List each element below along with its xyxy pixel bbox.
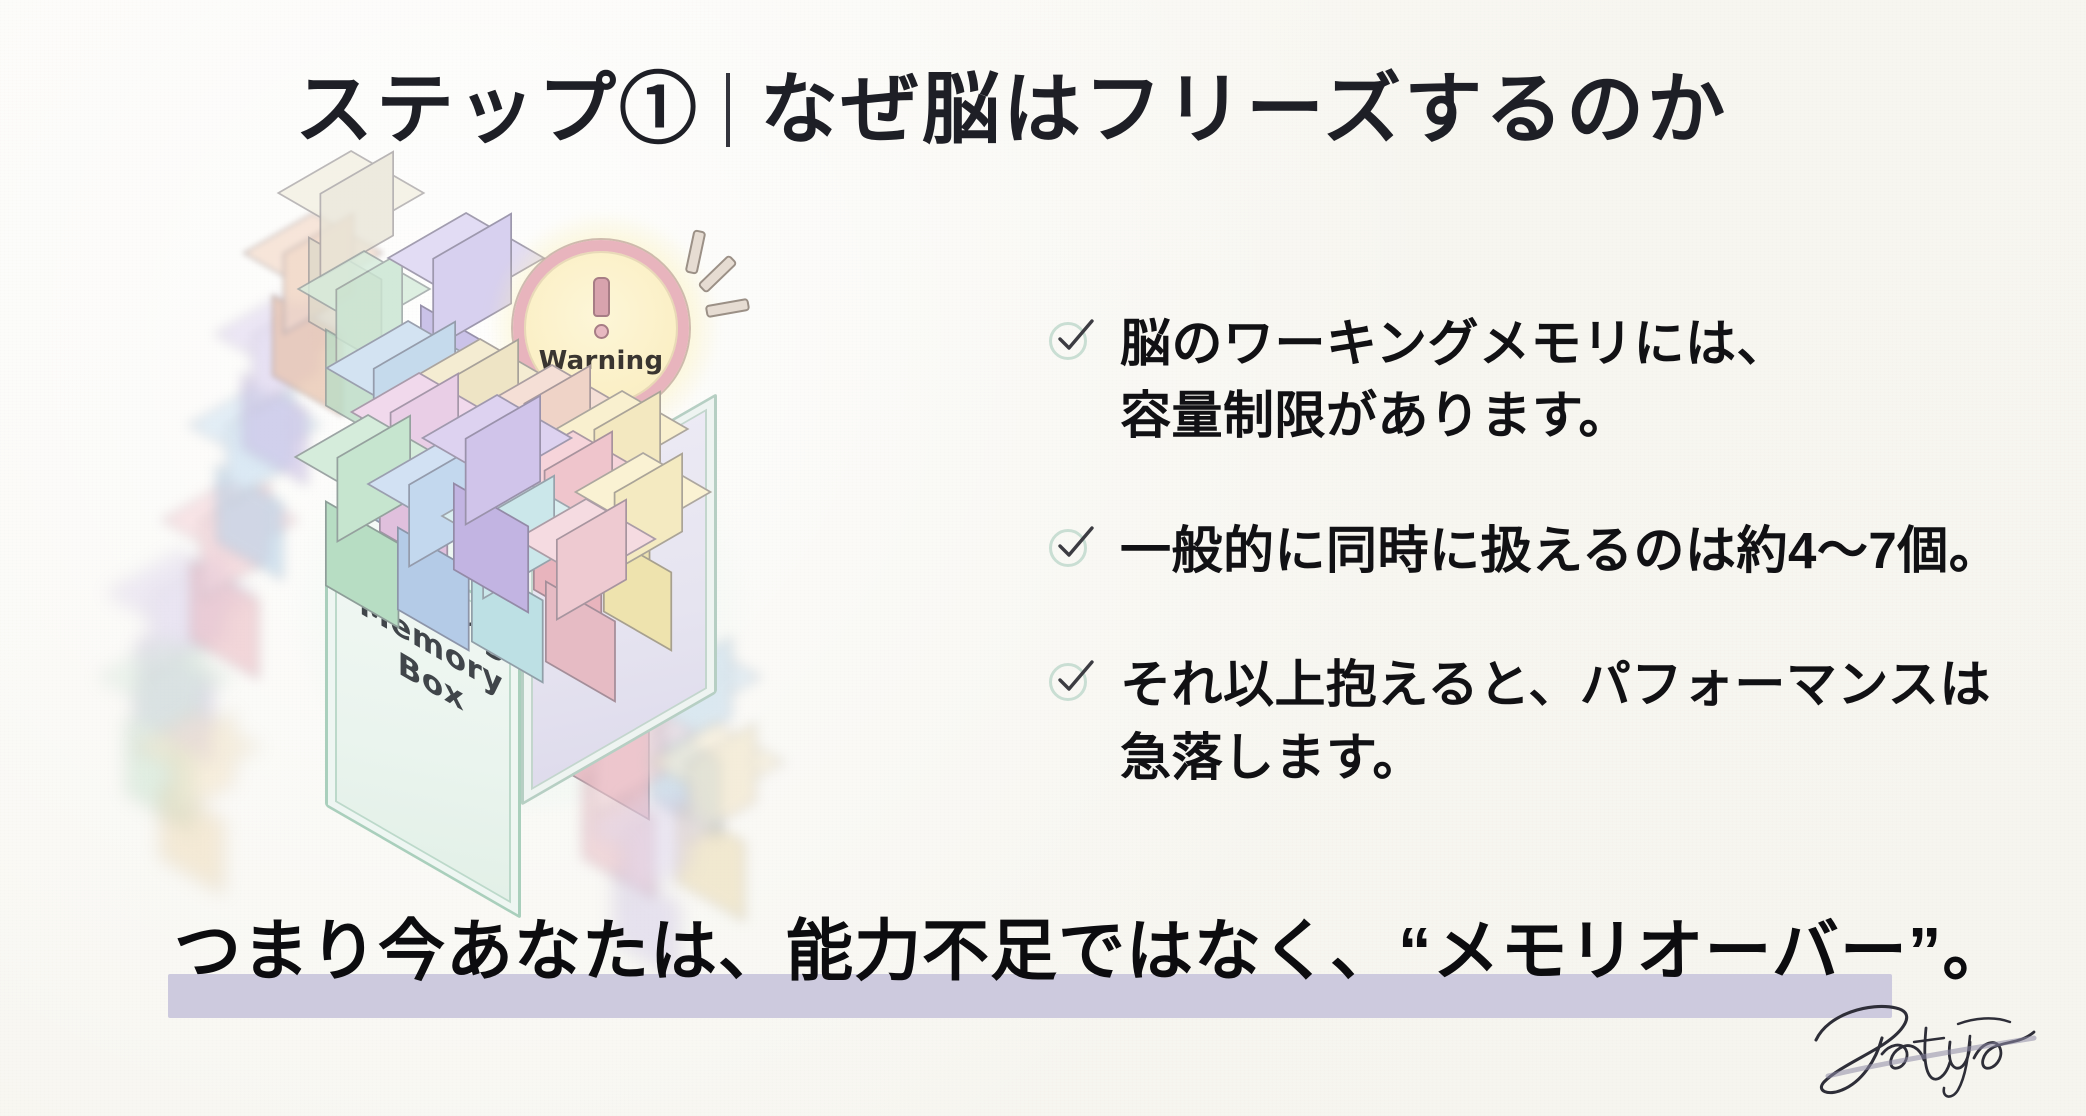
warning-ray [697, 254, 738, 294]
list-item: 脳のワーキングメモリには、 容量制限があります。 [1048, 308, 2008, 453]
floating-cube [325, 250, 403, 328]
check-circle-icon [1048, 659, 1094, 705]
title-divider [726, 73, 730, 147]
list-item: それ以上抱えると、パフォーマンスは 急落します。 [1048, 649, 2008, 794]
working-memory-illustration: Warning [120, 150, 930, 880]
box-cube-stack [325, 338, 725, 568]
list-item-label: 脳のワーキングメモリには、 容量制限があります。 [1120, 308, 1788, 453]
list-item-label: それ以上抱えると、パフォーマンスは 急落します。 [1120, 649, 1991, 794]
list-item-label: 一般的に同時に扱えるのは約4〜7個。 [1120, 515, 2000, 587]
check-circle-icon [1048, 318, 1094, 364]
banner-text: つまり今あなたは、能力不足ではなく、“メモリオーバー”。 [174, 912, 2010, 991]
title-step-label: ステップ① [295, 71, 700, 149]
slide-canvas: ステップ① なぜ脳はフリーズするのか [0, 0, 2086, 1116]
exclamation-dot-icon [594, 324, 609, 339]
signature [1798, 998, 2048, 1102]
list-item: 一般的に同時に扱えるのは約4〜7個。 [1048, 515, 2008, 587]
warning-rays [677, 228, 757, 338]
floating-cube [308, 150, 394, 236]
page-title: ステップ① なぜ脳はフリーズするのか [295, 62, 1728, 158]
title-heading: なぜ脳はフリーズするのか [760, 71, 1728, 149]
scattered-cube [126, 638, 204, 716]
bullet-list: 脳のワーキングメモリには、 容量制限があります。 一般的に同時に扱えるのは約4〜… [1048, 308, 2008, 794]
warning-ray [685, 229, 707, 275]
summary-banner: つまり今あなたは、能力不足ではなく、“メモリオーバー”。 [168, 912, 1928, 1020]
warning-ray [705, 298, 751, 318]
stack-cube [545, 498, 627, 580]
scattered-cube [160, 710, 234, 784]
stack-cube [453, 394, 541, 482]
exclamation-icon [593, 277, 610, 317]
check-circle-icon [1048, 525, 1094, 571]
